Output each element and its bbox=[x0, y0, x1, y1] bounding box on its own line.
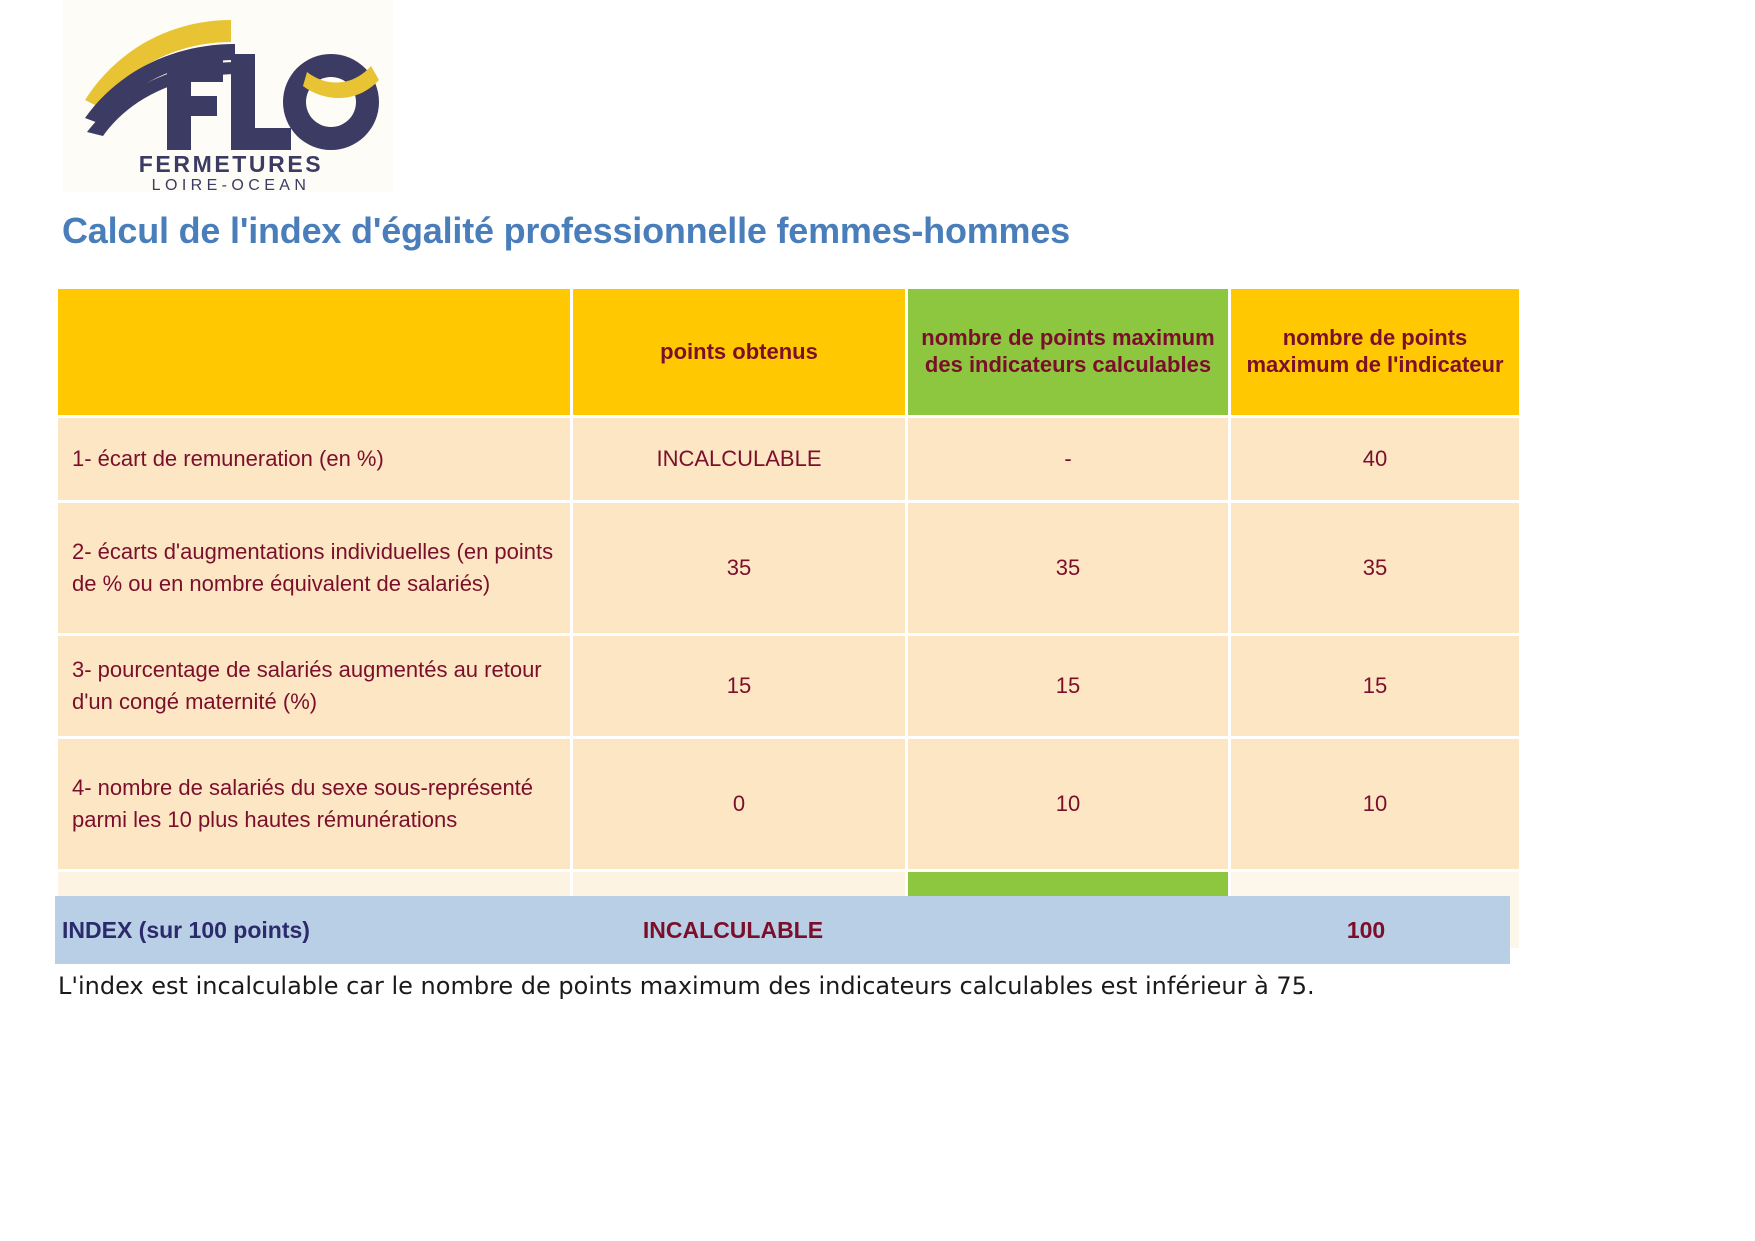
row-4-max-calculables: 10 bbox=[908, 739, 1228, 869]
table-row: 4- nombre de salariés du sexe sous-repré… bbox=[58, 739, 1519, 869]
footnote-text: L'index est incalculable car le nombre d… bbox=[58, 972, 1315, 1000]
row-2-points-obtenus: 35 bbox=[573, 503, 905, 633]
index-table: points obtenus nombre de points maximum … bbox=[55, 286, 1522, 951]
row-4-max-indicateur: 10 bbox=[1231, 739, 1519, 869]
row-3-max-calculables: 15 bbox=[908, 636, 1228, 736]
logo-loire-ocean-text: LOIRE-OCEAN bbox=[152, 177, 311, 192]
index-result-row: INDEX (sur 100 points) INCALCULABLE 100 bbox=[55, 896, 1510, 964]
logo-fermetures-text: FERMETURES bbox=[139, 151, 323, 177]
row-label-1: 1- écart de remuneration (en %) bbox=[58, 418, 570, 500]
row-3-max-indicateur: 15 bbox=[1231, 636, 1519, 736]
header-cell-max-indicateur: nombre de points maximum de l'indicateur bbox=[1231, 289, 1519, 415]
flo-fermetures-logo-graphic: FERMETURES LOIRE-OCEAN bbox=[63, 0, 393, 192]
table-header-row: points obtenus nombre de points maximum … bbox=[58, 289, 1519, 415]
index-value: INCALCULABLE bbox=[567, 896, 899, 964]
table-row: 1- écart de remuneration (en %) INCALCUL… bbox=[58, 418, 1519, 500]
table-row: 2- écarts d'augmentations individuelles … bbox=[58, 503, 1519, 633]
row-1-points-obtenus: INCALCULABLE bbox=[573, 418, 905, 500]
row-2-max-indicateur: 35 bbox=[1231, 503, 1519, 633]
index-table-container: points obtenus nombre de points maximum … bbox=[55, 286, 1510, 951]
row-label-2: 2- écarts d'augmentations individuelles … bbox=[58, 503, 570, 633]
row-4-points-obtenus: 0 bbox=[573, 739, 905, 869]
row-2-max-calculables: 35 bbox=[908, 503, 1228, 633]
company-logo: FERMETURES LOIRE-OCEAN bbox=[63, 0, 393, 192]
row-label-3: 3- pourcentage de salariés augmentés au … bbox=[58, 636, 570, 736]
row-1-max-calculables: - bbox=[908, 418, 1228, 500]
row-3-points-obtenus: 15 bbox=[573, 636, 905, 736]
header-cell-points-obtenus: points obtenus bbox=[573, 289, 905, 415]
header-cell-indicator bbox=[58, 289, 570, 415]
index-max: 100 bbox=[1222, 896, 1510, 964]
document-page: FERMETURES LOIRE-OCEAN Calcul de l'index… bbox=[0, 0, 1755, 1241]
page-title: Calcul de l'index d'égalité professionne… bbox=[62, 210, 1070, 252]
table-row: 3- pourcentage de salariés augmentés au … bbox=[58, 636, 1519, 736]
row-label-4: 4- nombre de salariés du sexe sous-repré… bbox=[58, 739, 570, 869]
index-label: INDEX (sur 100 points) bbox=[62, 896, 310, 964]
header-cell-max-calculables: nombre de points maximum des indicateurs… bbox=[908, 289, 1228, 415]
row-1-max-indicateur: 40 bbox=[1231, 418, 1519, 500]
